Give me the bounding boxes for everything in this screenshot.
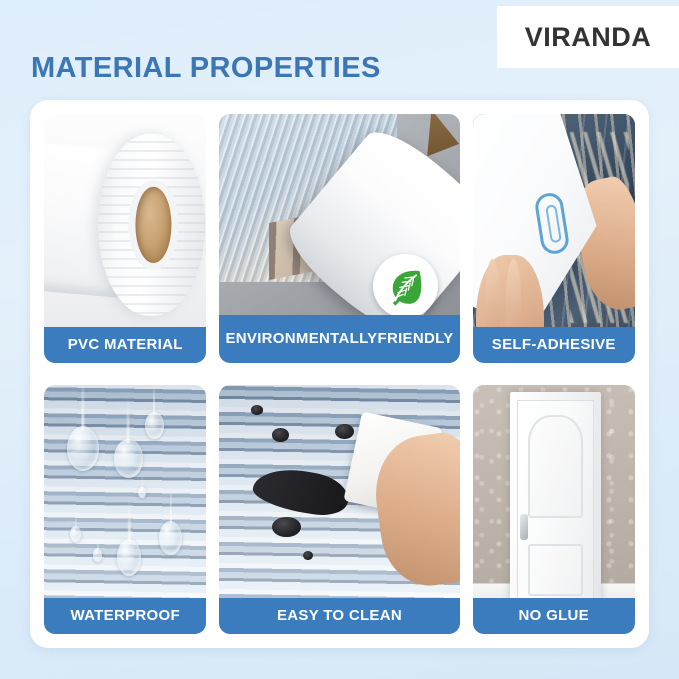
feature-card-self-adhesive[interactable]: SELF-ADHESIVE bbox=[473, 114, 635, 363]
water-drop bbox=[117, 539, 141, 575]
eco-wallpaper-image bbox=[219, 114, 459, 341]
feature-grid: PVC MATERIAL bbox=[44, 114, 635, 634]
stain-spot bbox=[251, 405, 263, 414]
feature-card-waterproof[interactable]: WATERPROOF bbox=[44, 385, 206, 634]
feature-card-environmentally-friendly[interactable]: ENVIRONMENTALLY FRIENDLY bbox=[219, 114, 459, 363]
door-lower-panel bbox=[528, 544, 583, 596]
feature-label-pvc-material: PVC MATERIAL bbox=[44, 327, 206, 363]
door-leaf bbox=[517, 400, 593, 600]
label-line-2: FRIENDLY bbox=[377, 331, 453, 347]
stain-spot bbox=[272, 517, 301, 537]
label-line-1: ENVIRONMENTALLY bbox=[225, 331, 377, 347]
waterproof-image bbox=[44, 385, 206, 612]
brand-name: VIRANDA bbox=[525, 22, 652, 53]
stain-spot bbox=[303, 551, 313, 560]
feature-panel: PVC MATERIAL bbox=[30, 100, 649, 648]
feature-label-no-glue: NO GLUE bbox=[473, 598, 635, 634]
page-title: MATERIAL PROPERTIES bbox=[31, 52, 381, 85]
pvc-core-shape bbox=[136, 187, 171, 263]
feature-label-easy-to-clean: EASY TO CLEAN bbox=[219, 598, 459, 634]
feature-label-environmentally-friendly: ENVIRONMENTALLY FRIENDLY bbox=[219, 315, 459, 363]
feature-card-easy-to-clean[interactable]: EASY TO CLEAN bbox=[219, 385, 459, 634]
door-arch-panel bbox=[528, 415, 583, 518]
water-drop bbox=[138, 487, 146, 498]
stain-spot bbox=[335, 424, 354, 440]
door-frame bbox=[510, 392, 601, 601]
pvc-roll-image bbox=[44, 114, 206, 341]
water-drop bbox=[93, 548, 103, 562]
water-drop bbox=[114, 439, 143, 478]
water-drop bbox=[70, 526, 81, 542]
stain-spot bbox=[272, 428, 289, 442]
pvc-roll-shape bbox=[98, 134, 205, 316]
leaf-icon bbox=[385, 265, 426, 306]
no-glue-door-image bbox=[473, 385, 635, 612]
stain-smear bbox=[250, 464, 351, 519]
water-drop bbox=[159, 521, 182, 555]
brand-plate: VIRANDA bbox=[497, 6, 679, 68]
water-drop bbox=[67, 426, 99, 471]
easy-to-clean-image bbox=[219, 385, 459, 612]
feature-label-self-adhesive: SELF-ADHESIVE bbox=[473, 327, 635, 363]
door-handle bbox=[520, 514, 527, 540]
feature-card-no-glue[interactable]: NO GLUE bbox=[473, 385, 635, 634]
eco-badge bbox=[373, 254, 438, 319]
feature-label-waterproof: WATERPROOF bbox=[44, 598, 206, 634]
self-adhesive-image bbox=[473, 114, 635, 341]
water-drop bbox=[145, 412, 164, 439]
feature-card-pvc-material[interactable]: PVC MATERIAL bbox=[44, 114, 206, 363]
